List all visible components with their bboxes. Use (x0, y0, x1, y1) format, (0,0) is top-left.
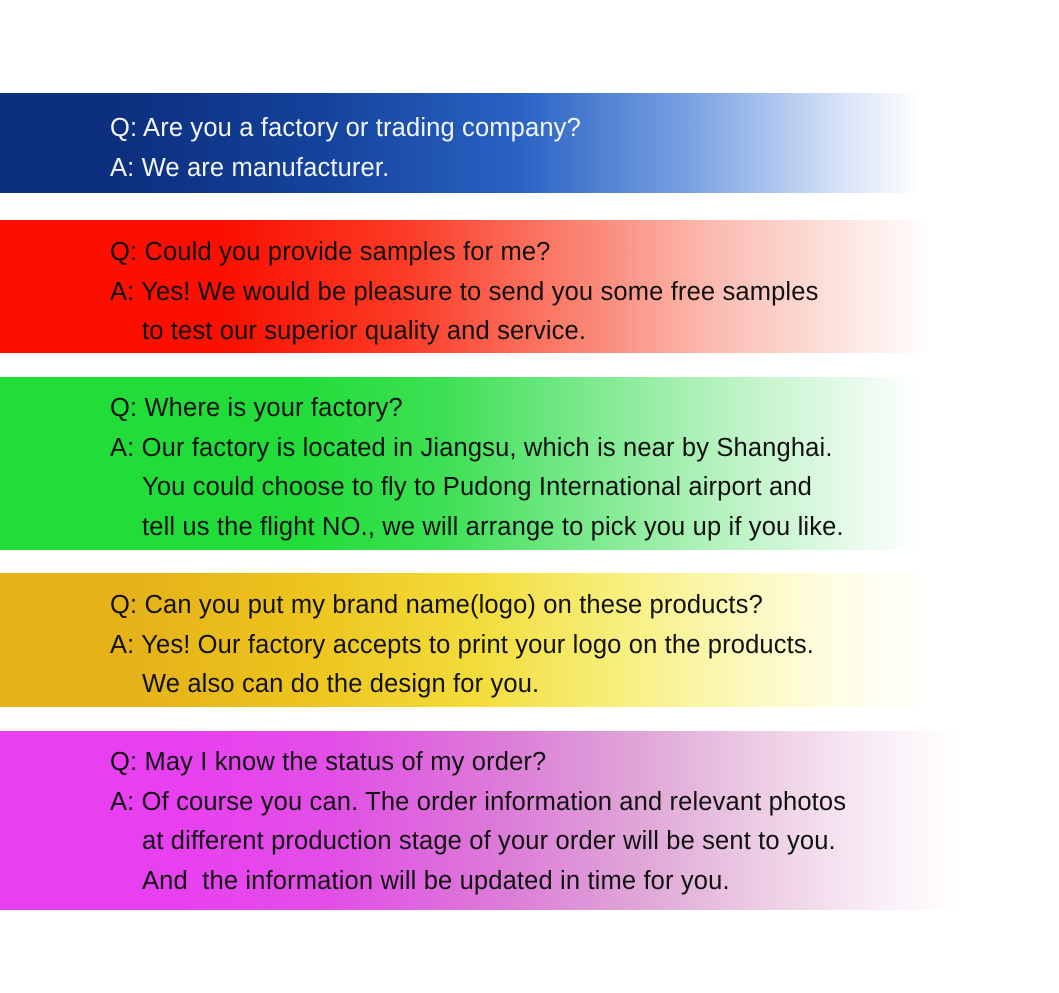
faq-item-factory-location: Q: Where is your factory? A: Our factory… (0, 377, 1000, 550)
faq-question-line: Q: Can you put my brand name(logo) on th… (110, 586, 1000, 626)
faq-answer-line: A: We are manufacturer. (110, 149, 1000, 189)
faq-text-block: Q: Are you a factory or trading company?… (110, 109, 1000, 188)
faq-item-order-status: Q: May I know the status of my order? A:… (0, 731, 1010, 910)
faq-text-block: Q: Could you provide samples for me? A: … (110, 233, 1000, 352)
faq-answer-line: A: Yes! We would be pleasure to send you… (110, 273, 1000, 313)
faq-answer-line-continued: We also can do the design for you. (110, 665, 1000, 705)
faq-item-samples: Q: Could you provide samples for me? A: … (0, 220, 1000, 353)
faq-question-line: Q: Are you a factory or trading company? (110, 109, 1000, 149)
faq-answer-line-continued: tell us the flight NO., we will arrange … (110, 508, 1000, 548)
faq-answer-line: A: Yes! Our factory accepts to print you… (110, 626, 1000, 666)
faq-question-line: Q: Where is your factory? (110, 389, 1000, 429)
faq-answer-line-continued: to test our superior quality and service… (110, 312, 1000, 352)
faq-item-factory-or-trading: Q: Are you a factory or trading company?… (0, 93, 1000, 193)
faq-question-line: Q: Could you provide samples for me? (110, 233, 1000, 273)
faq-text-block: Q: Where is your factory? A: Our factory… (110, 389, 1000, 547)
faq-answer-line-continued: And the information will be updated in t… (110, 862, 1010, 902)
faq-board: Q: Are you a factory or trading company?… (0, 0, 1059, 993)
faq-question-line: Q: May I know the status of my order? (110, 743, 1010, 783)
faq-answer-line-continued: You could choose to fly to Pudong Intern… (110, 468, 1000, 508)
faq-answer-line: A: Of course you can. The order informat… (110, 783, 1010, 823)
faq-item-brand-logo: Q: Can you put my brand name(logo) on th… (0, 573, 1000, 707)
faq-answer-line-continued: at different production stage of your or… (110, 822, 1010, 862)
faq-text-block: Q: May I know the status of my order? A:… (110, 743, 1010, 901)
faq-text-block: Q: Can you put my brand name(logo) on th… (110, 586, 1000, 705)
faq-answer-line: A: Our factory is located in Jiangsu, wh… (110, 429, 1000, 469)
